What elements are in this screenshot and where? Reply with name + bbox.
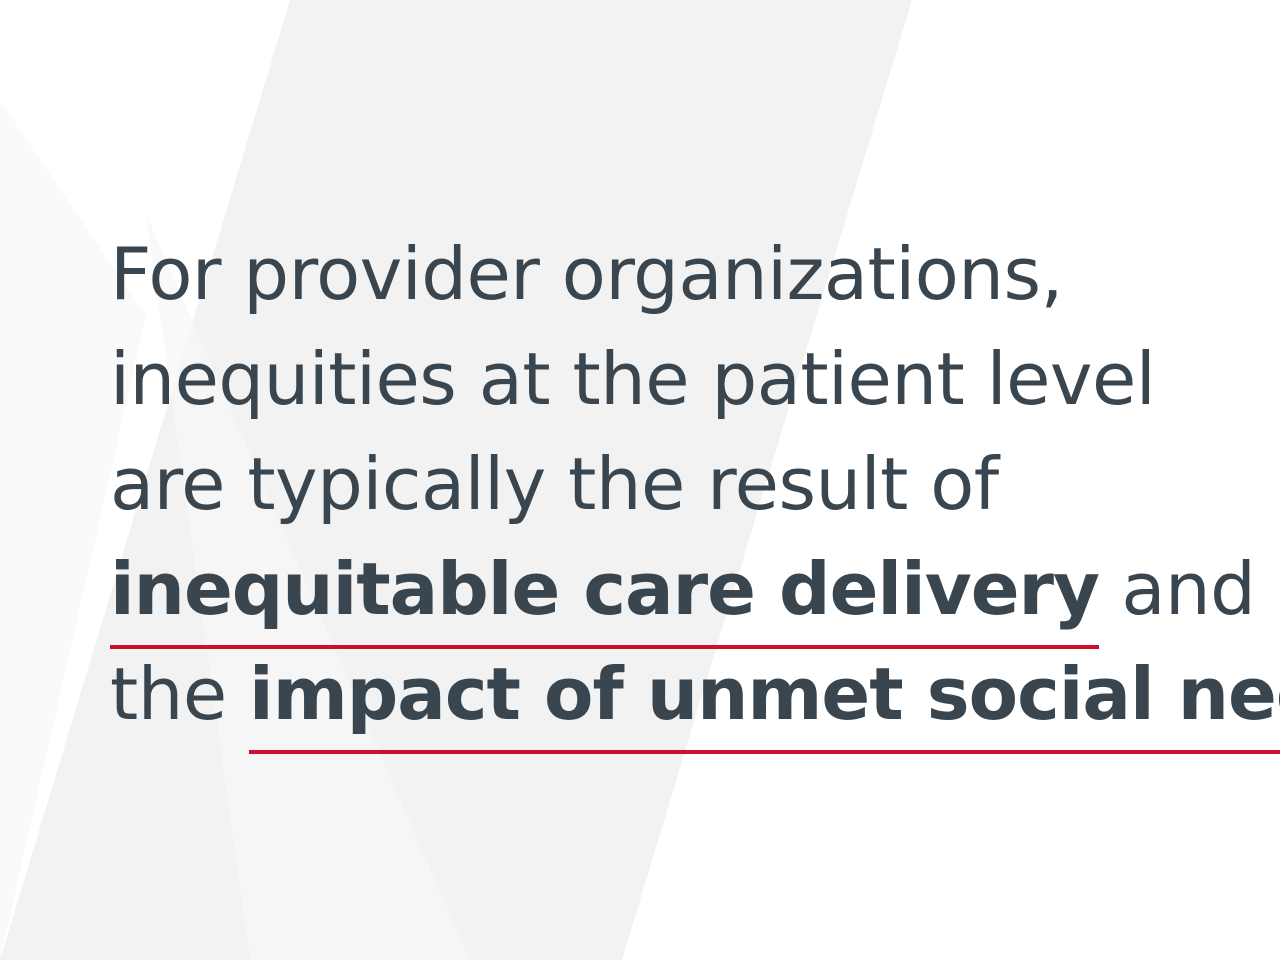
background-shape-notch [0,0,290,214]
quote-line-5-segment-1: the [110,652,249,736]
quote-line-3: are typically the result of [110,432,1220,537]
quote-line-3-segment-1: are typically the result of [110,442,999,526]
quote-emphasis-inequitable-care-delivery: inequitable care delivery [110,537,1099,642]
quote-line-1-segment-1: For provider organizations, [110,232,1063,316]
quote-line-5: the impact of unmet social needs. [110,642,1220,747]
slide-canvas: For provider organizations, inequities a… [0,0,1280,960]
quote-line-2: inequities at the patient level [110,327,1220,432]
quote-line-4: inequitable care delivery and [110,537,1220,642]
quote-line-4-segment-2: and [1099,547,1255,631]
quote-line-2-segment-1: inequities at the patient level [110,337,1155,421]
quote-text-block: For provider organizations, inequities a… [110,222,1220,747]
quote-emphasis-impact-of-unmet-social-needs: impact of unmet social needs [249,642,1280,747]
quote-line-1: For provider organizations, [110,222,1220,327]
